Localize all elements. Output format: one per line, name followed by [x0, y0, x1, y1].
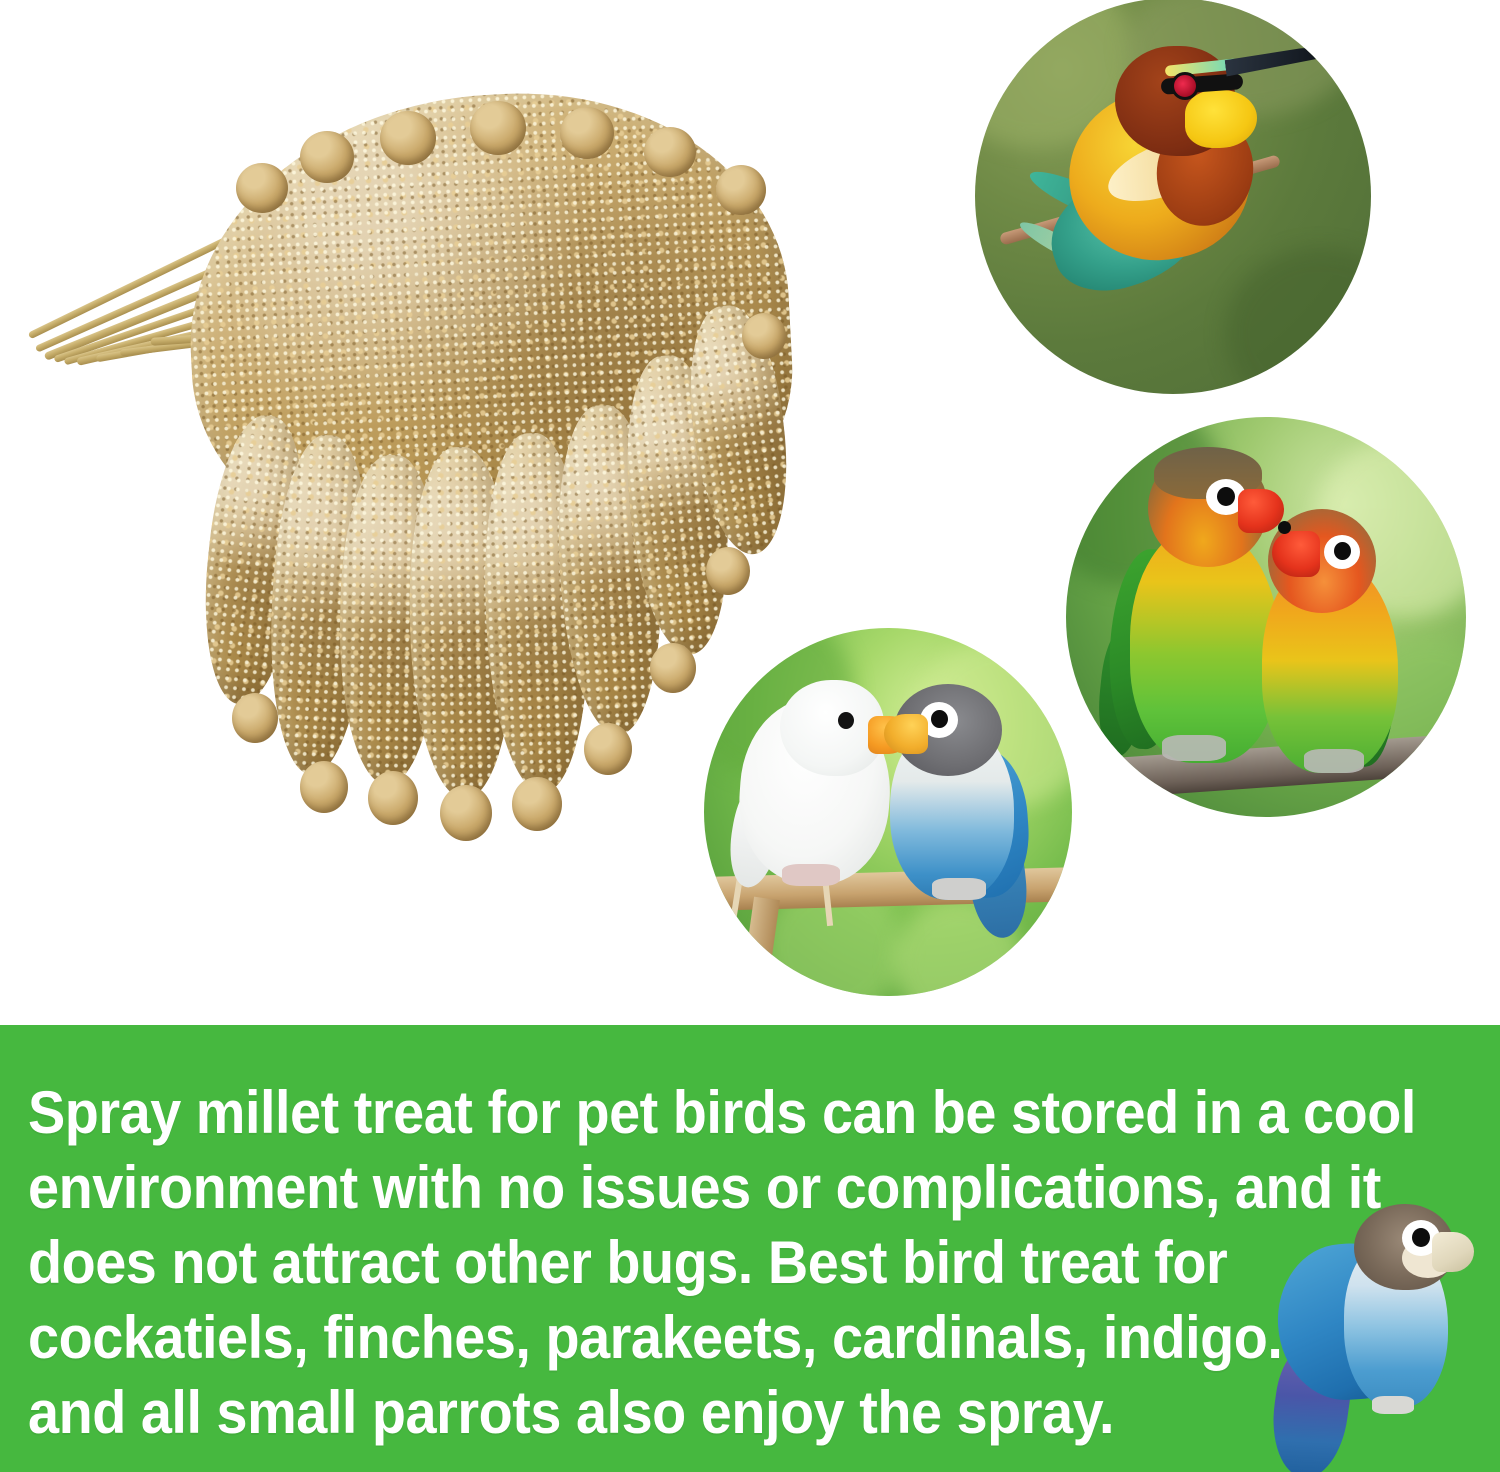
- banner-line: cockatiels, finches, parakeets, cardinal…: [28, 1300, 1265, 1375]
- millet-seed-lobe: [716, 165, 766, 215]
- banner-bird-eye: [1412, 1228, 1430, 1247]
- product-image-canvas: Spray millet treat for pet birds can be …: [0, 0, 1500, 1472]
- banner-line: and all small parrots also enjoy the spr…: [28, 1375, 1265, 1450]
- bird-eye: [1171, 72, 1199, 100]
- lovebird-left-eye: [1217, 487, 1235, 506]
- bokeh-blur: [1225, 248, 1371, 394]
- photo-area: [0, 0, 1500, 1025]
- lovebird-right-eye: [1334, 542, 1351, 560]
- banner-bird-feet: [1372, 1396, 1414, 1414]
- millet-seed-lobe: [232, 693, 278, 743]
- spray-millet-product-photo: [0, 55, 820, 845]
- lovebird-right-feet: [1304, 749, 1364, 773]
- millet-seed-lobe: [512, 777, 562, 831]
- millet-seed-lobe: [380, 111, 436, 165]
- banner-line: does not attract other bugs. Best bird t…: [28, 1225, 1265, 1300]
- millet-seed-lobe: [706, 547, 750, 595]
- lovebird-right-eye-small: [1278, 521, 1291, 534]
- banner-line: environment with no issues or complicati…: [28, 1150, 1265, 1225]
- millet-seed-lobe: [440, 785, 492, 841]
- millet-seed-lobe: [368, 771, 418, 825]
- millet-seed-lobe: [300, 761, 348, 813]
- millet-seed-lobe: [584, 723, 632, 775]
- millet-seed-lobe: [560, 107, 614, 159]
- bird-photo-lovebirds: [1066, 417, 1466, 817]
- banner-bird-beak: [1432, 1232, 1474, 1272]
- millet-seed-lobe: [300, 131, 354, 183]
- blue-lovebird-feet: [932, 878, 986, 900]
- bird-photo-bee-eater: [975, 0, 1371, 394]
- lovebird-left-feet: [1162, 735, 1226, 761]
- blue-lovebird-beak: [884, 714, 928, 754]
- millet-seed-lobe: [236, 163, 288, 213]
- banner-blue-lovebird: [1252, 1186, 1482, 1472]
- millet-seed-lobe: [650, 643, 696, 693]
- white-lovebird-feet: [782, 864, 840, 886]
- banner-description-text: Spray millet treat for pet birds can be …: [28, 1075, 1265, 1450]
- millet-seed-lobe: [742, 313, 786, 359]
- millet-seed-lobe: [470, 101, 526, 155]
- lovebird-right-beak: [1272, 531, 1320, 577]
- green-description-banner: Spray millet treat for pet birds can be …: [0, 1025, 1500, 1472]
- white-lovebird-eye: [838, 712, 854, 729]
- blue-lovebird-eye: [931, 710, 948, 728]
- bird-photo-white-and-blue-pair: [704, 628, 1072, 996]
- millet-seed-lobe: [644, 127, 696, 177]
- banner-line: Spray millet treat for pet birds can be …: [28, 1075, 1265, 1150]
